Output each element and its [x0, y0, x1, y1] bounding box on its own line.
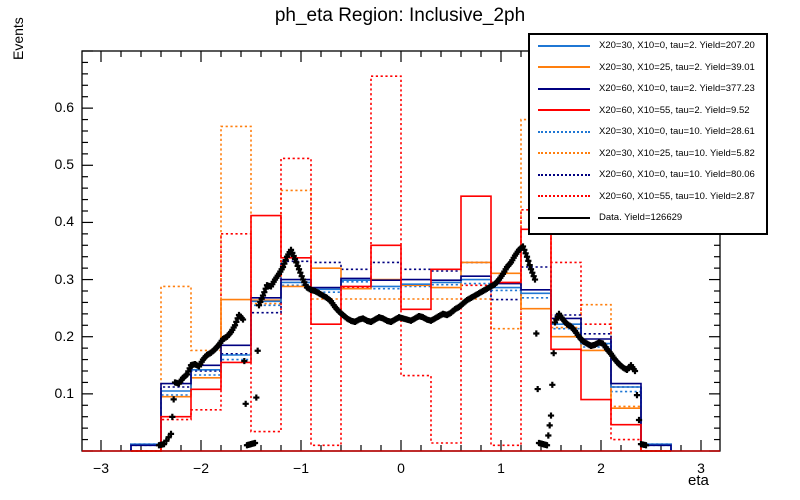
y-tick-label: 0.6 [34, 99, 74, 115]
data-marker [243, 401, 249, 407]
data-marker [634, 392, 640, 398]
legend-item[interactable]: X20=60, X10=0, tau=10. Yield=80.06 [530, 164, 766, 186]
data-marker [533, 330, 539, 336]
legend-item[interactable]: X20=60, X10=0, tau=2. Yield=377.23 [530, 78, 766, 100]
data-marker [549, 382, 555, 388]
legend-label: X20=60, X10=55, tau=2. Yield=9.52 [599, 105, 750, 116]
data-marker [551, 350, 557, 356]
x-tick-label: −2 [176, 460, 226, 476]
y-tick-label: 0.2 [34, 328, 74, 344]
legend-label: X20=30, X10=25, tau=10. Yield=5.82 [599, 148, 755, 159]
legend-label: X20=30, X10=0, tau=10. Yield=28.61 [599, 126, 755, 137]
data-marker [545, 432, 551, 438]
legend-item[interactable]: X20=30, X10=25, tau=2. Yield=39.01 [530, 57, 766, 79]
legend-label: X20=60, X10=55, tau=10. Yield=2.87 [599, 191, 755, 202]
legend-item[interactable]: X20=60, X10=55, tau=10. Yield=2.87 [530, 186, 766, 208]
y-tick-label: 0.1 [34, 385, 74, 401]
y-tick-label: 0.3 [34, 271, 74, 287]
legend-item[interactable]: Data. Yield=126629 [530, 207, 766, 229]
x-tick-label: 1 [476, 460, 526, 476]
legend-label: X20=60, X10=0, tau=2. Yield=377.23 [599, 83, 755, 94]
x-tick-label: −1 [276, 460, 326, 476]
legend-label: X20=30, X10=0, tau=2. Yield=207.20 [599, 40, 755, 51]
x-tick-label: 0 [376, 460, 426, 476]
data-marker [255, 348, 261, 354]
data-marker [535, 386, 541, 392]
legend-swatch [538, 195, 590, 197]
legend-swatch [538, 66, 590, 68]
legend-swatch [538, 217, 590, 219]
legend-item[interactable]: X20=30, X10=25, tau=10. Yield=5.82 [530, 143, 766, 165]
legend-item[interactable]: X20=30, X10=0, tau=2. Yield=207.20 [530, 35, 766, 57]
plot-canvas: ph_eta Region: Inclusive_2ph Events eta … [0, 0, 800, 500]
x-tick-label: −3 [76, 460, 126, 476]
legend-swatch [538, 109, 590, 111]
legend-item[interactable]: X20=60, X10=55, tau=2. Yield=9.52 [530, 100, 766, 122]
legend-swatch [538, 45, 590, 47]
data-marker [548, 412, 554, 418]
legend-label: X20=30, X10=25, tau=2. Yield=39.01 [599, 62, 755, 73]
data-marker [169, 414, 175, 420]
legend-label: X20=60, X10=0, tau=10. Yield=80.06 [599, 169, 755, 180]
legend-label: Data. Yield=126629 [599, 212, 682, 223]
legend-swatch [538, 174, 590, 176]
legend-item[interactable]: X20=30, X10=0, tau=10. Yield=28.61 [530, 121, 766, 143]
legend-box[interactable]: X20=30, X10=0, tau=2. Yield=207.20X20=30… [528, 33, 768, 235]
data-marker [253, 394, 259, 400]
legend-swatch [538, 88, 590, 90]
y-tick-label: 0.4 [34, 213, 74, 229]
x-tick-label: 2 [576, 460, 626, 476]
legend-swatch [538, 152, 590, 154]
y-tick-label: 0.5 [34, 156, 74, 172]
data-marker [547, 422, 553, 428]
x-tick-label: 3 [676, 460, 726, 476]
legend-swatch [538, 131, 590, 133]
